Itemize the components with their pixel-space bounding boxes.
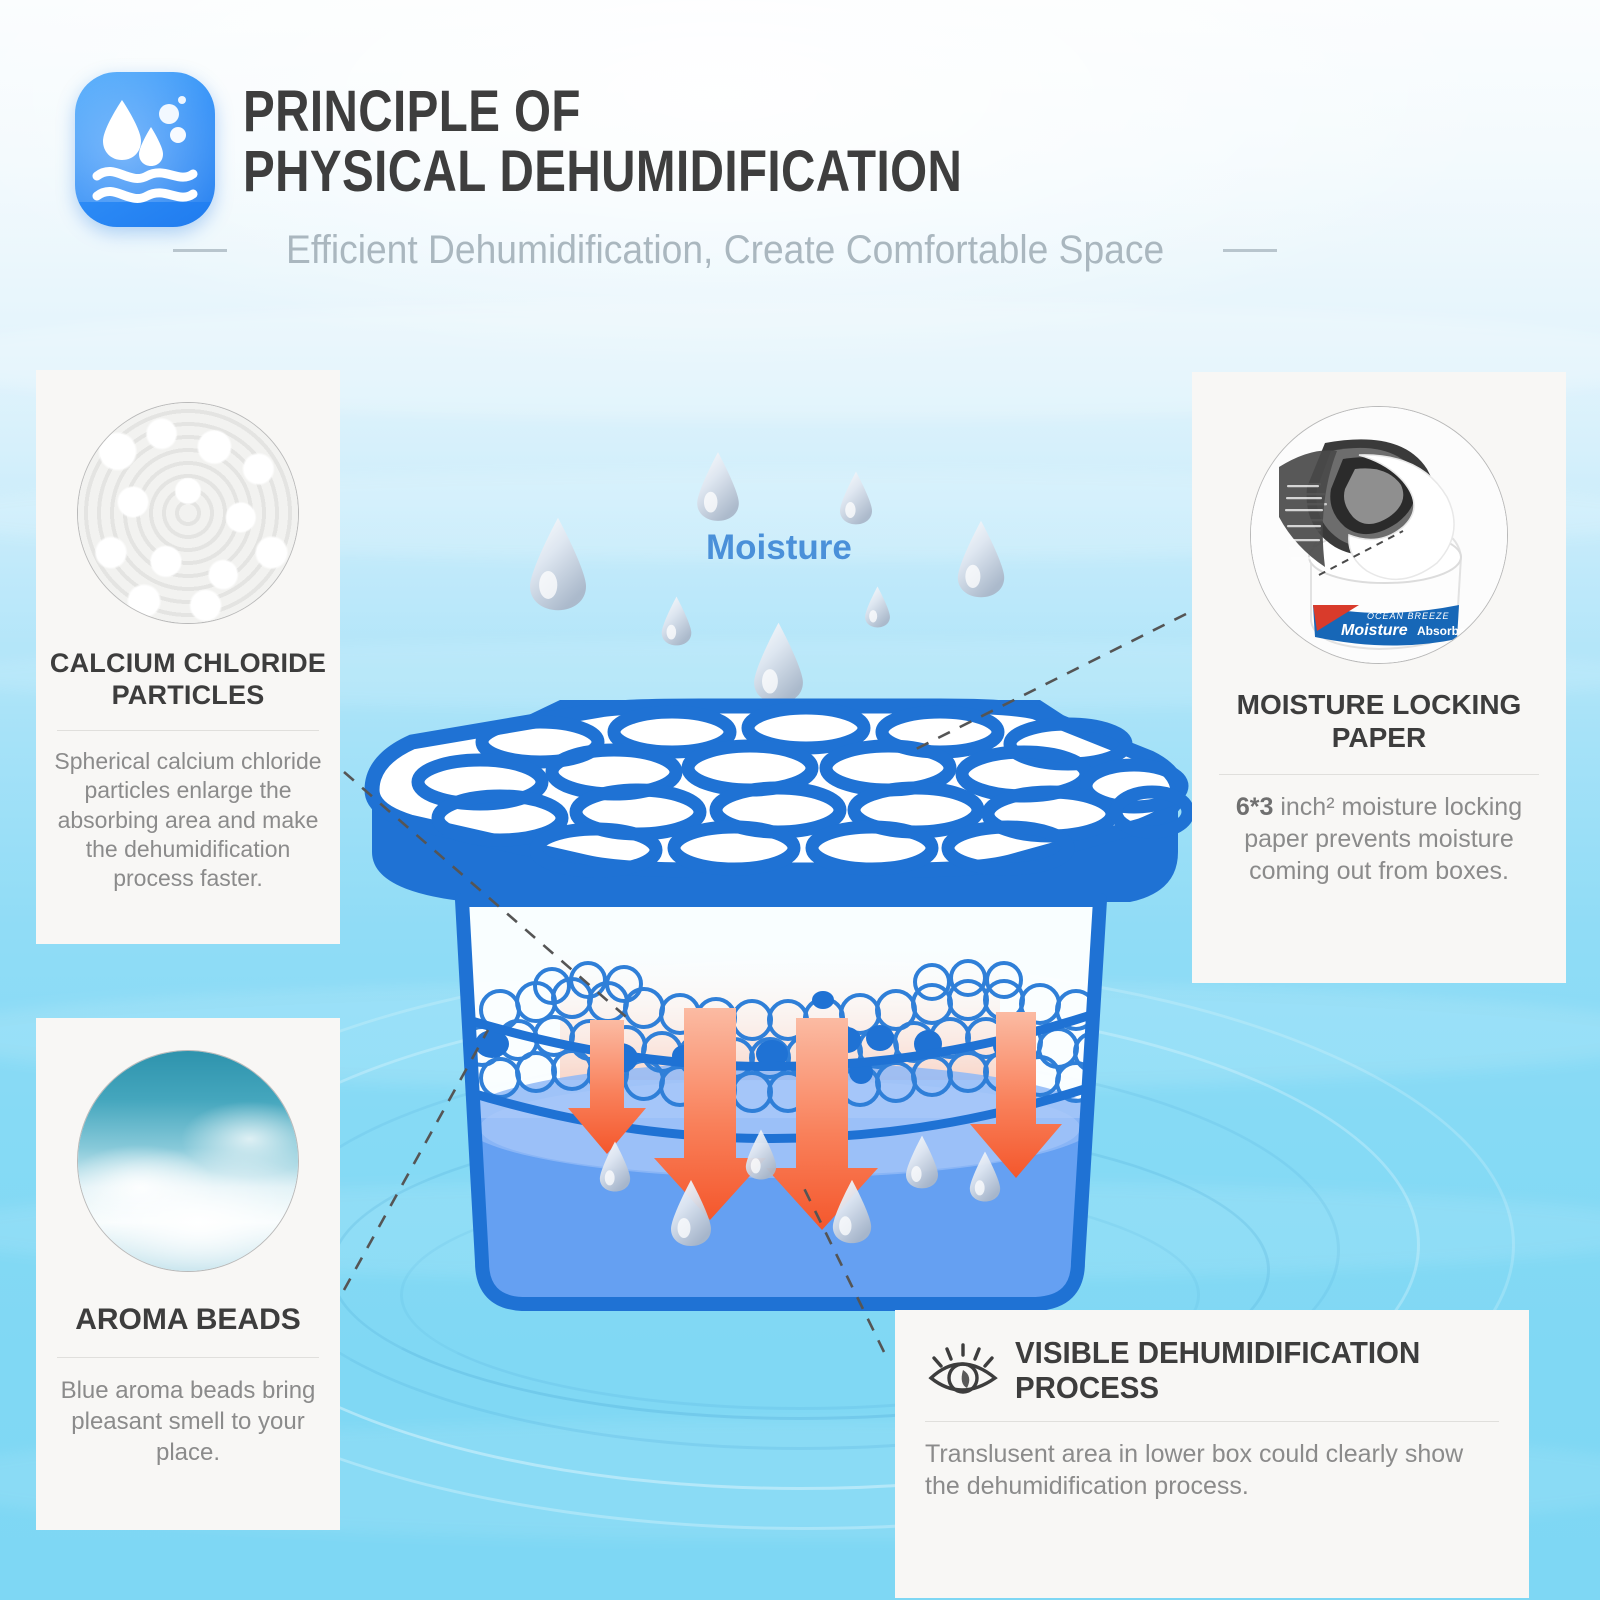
title-line-2: PHYSICAL DEHUMIDIFICATION (243, 142, 962, 202)
card-title: MOISTURE LOCKING PAPER (1192, 688, 1566, 754)
title-line-1: PRINCIPLE OF (243, 82, 962, 142)
card-body: Spherical calcium chloride particles enl… (36, 747, 340, 894)
subtitle-text: Efficient Dehumidification, Create Comfo… (286, 228, 1164, 273)
card-title: AROMA BEADS (36, 1302, 340, 1337)
moisture-droplets (530, 452, 1004, 703)
container-lid (372, 700, 1188, 902)
card-calcium-chloride: CALCIUM CHLORIDE PARTICLES Spherical cal… (36, 370, 340, 944)
card-title-line-1: VISIBLE DEHUMIDIFICATION (1015, 1336, 1420, 1371)
card-body-highlight: 6*3 (1236, 793, 1274, 821)
ocean-wave-photo (77, 1050, 299, 1272)
moisture-locking-paper-photo: OCEAN BREEZE Moisture Absorber (1250, 406, 1508, 664)
subtitle-row: Efficient Dehumidification, Create Comfo… (0, 228, 1450, 273)
container-body (460, 900, 1234, 1304)
water-drop-waves-icon (75, 72, 215, 227)
card-moisture-locking-paper: OCEAN BREEZE Moisture Absorber (1192, 372, 1566, 983)
app-logo (75, 72, 215, 227)
eye-icon (925, 1340, 1001, 1402)
moisture-label: Moisture (706, 528, 852, 568)
card-divider (1219, 774, 1539, 775)
card-title: CALCIUM CHLORIDE PARTICLES (36, 648, 340, 712)
paper-peel-illustration: OCEAN BREEZE Moisture Absorber (1251, 407, 1507, 663)
subtitle-dash-right (1223, 249, 1277, 252)
card-title-line-2: PROCESS (1015, 1371, 1420, 1406)
svg-text:OCEAN BREEZE: OCEAN BREEZE (1367, 611, 1450, 621)
card-body: 6*3 inch² moisture locking paper prevent… (1192, 791, 1566, 887)
calcium-chloride-pellets-photo (77, 402, 299, 624)
svg-text:Moisture: Moisture (1341, 622, 1408, 639)
subtitle-dash-left (173, 249, 227, 252)
card-divider (57, 730, 319, 731)
card-divider (57, 1357, 319, 1358)
svg-text:Absorber: Absorber (1417, 624, 1471, 638)
card-aroma-beads: AROMA BEADS Blue aroma beads bring pleas… (36, 1018, 340, 1530)
card-body-rest: inch² moisture locking paper prevents mo… (1244, 793, 1522, 885)
card-body: Blue aroma beads bring pleasant smell to… (36, 1376, 340, 1468)
connector-aroma (344, 1030, 488, 1290)
page-title: PRINCIPLE OF PHYSICAL DEHUMIDIFICATION (243, 82, 1120, 203)
card-visible-process: VISIBLE DEHUMIDIFICATION PROCESS Translu… (895, 1310, 1529, 1598)
card-body: Translusent area in lower box could clea… (895, 1422, 1529, 1502)
